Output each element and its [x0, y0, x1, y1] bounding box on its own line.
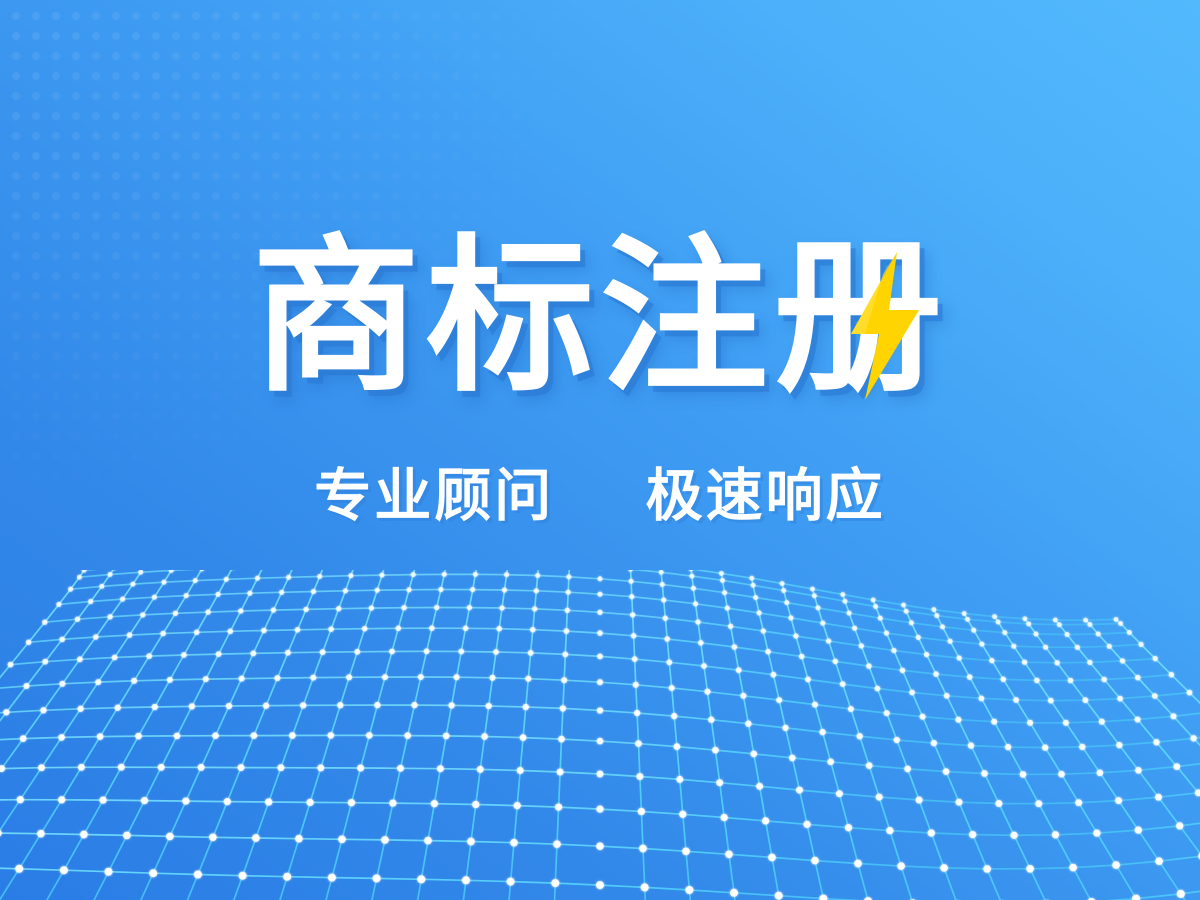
lightning-bolt-icon [845, 252, 923, 400]
banner-text-block: 商标注册 专业顾问 极速响应 [0, 0, 1200, 900]
headline-row: 商标注册 [252, 228, 948, 406]
trademark-registration-banner: 商标注册 专业顾问 极速响应 [0, 0, 1200, 900]
page-title: 商标注册 [252, 233, 948, 401]
wireframe-terrain-svg [0, 570, 1200, 900]
mesh-grid-lines [0, 570, 1200, 900]
wireframe-terrain-mesh [0, 570, 1200, 900]
mesh-vertex-dots [0, 570, 1200, 900]
subtitle: 专业顾问 极速响应 [314, 468, 885, 525]
